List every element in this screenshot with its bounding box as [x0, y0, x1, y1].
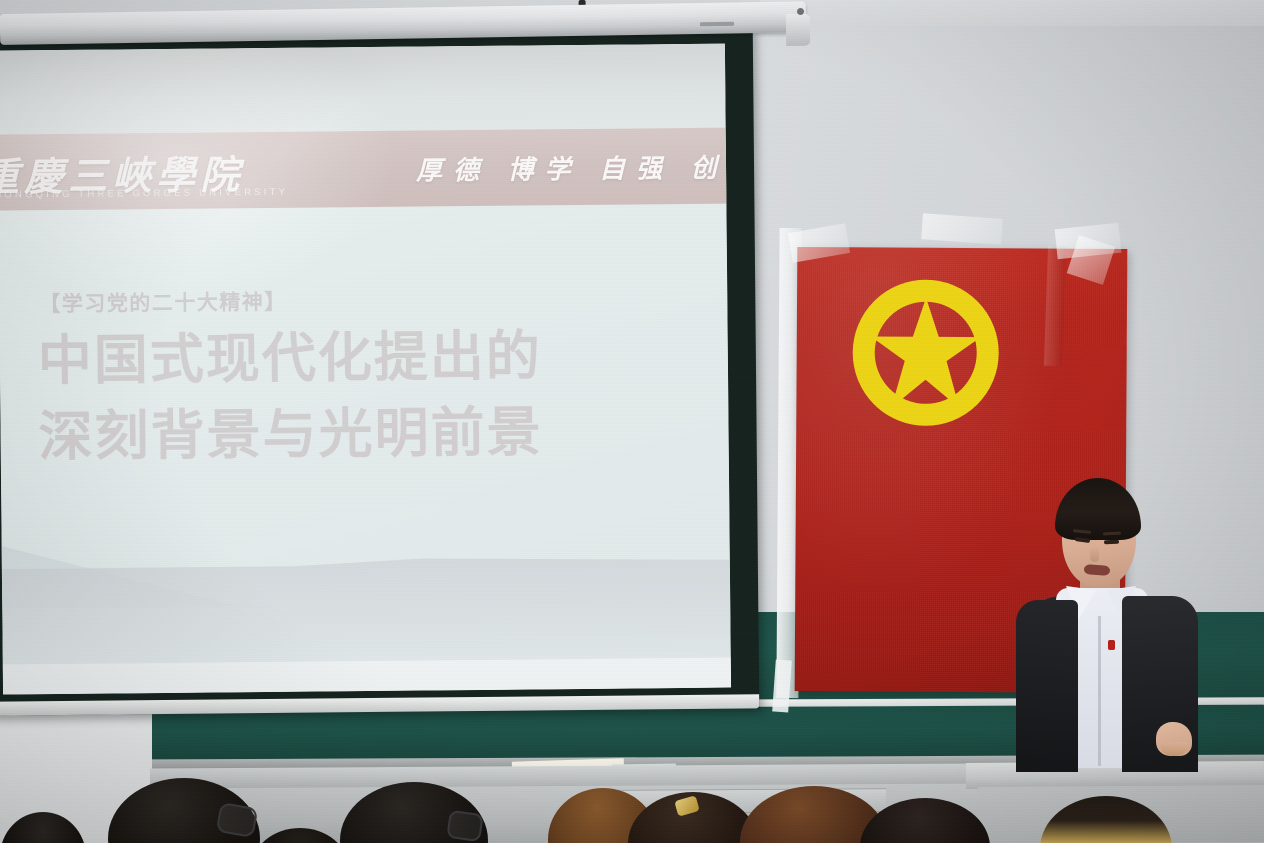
university-motto: 厚德 博学 自强 创新 [416, 147, 731, 187]
ceiling-edge [760, 0, 1264, 26]
slide-kicker-text: 【学习党的二十大精神】 [39, 286, 287, 318]
speaker-hair [1055, 478, 1141, 540]
screen-surface: 重慶三峽學院 CHONGQING THREE GORGES UNIVERSITY… [0, 44, 731, 695]
lecture-hall-photo: 重慶三峽學院 CHONGQING THREE GORGES UNIVERSITY… [0, 0, 1264, 843]
projector-screen[interactable]: 重慶三峽學院 CHONGQING THREE GORGES UNIVERSITY… [0, 28, 759, 715]
slide-title-line-2: 深刻背景与光明前景 [38, 405, 542, 464]
presentation-slide: 重慶三峽學院 CHONGQING THREE GORGES UNIVERSITY… [0, 44, 731, 695]
screen-roller-endcap [786, 14, 810, 46]
roller-label [700, 22, 734, 27]
speaker-shirt-placket [1098, 616, 1101, 766]
roller-mount-screw [797, 8, 804, 15]
slide-title-line-1: 中国式现代化提出的 [38, 329, 542, 388]
slide-footer-band [2, 556, 731, 671]
tape-piece-icon [921, 213, 1003, 245]
speaker-mouth [1084, 564, 1111, 576]
speaker-person [980, 470, 1220, 790]
slide-top-shade [0, 44, 726, 135]
eyeglasses-icon [446, 810, 484, 842]
speaker-jacket-left [1016, 600, 1078, 772]
speaker-eye-right [1104, 540, 1119, 545]
lapel-pin-icon [1108, 640, 1115, 650]
speaker-nose [1090, 546, 1099, 562]
